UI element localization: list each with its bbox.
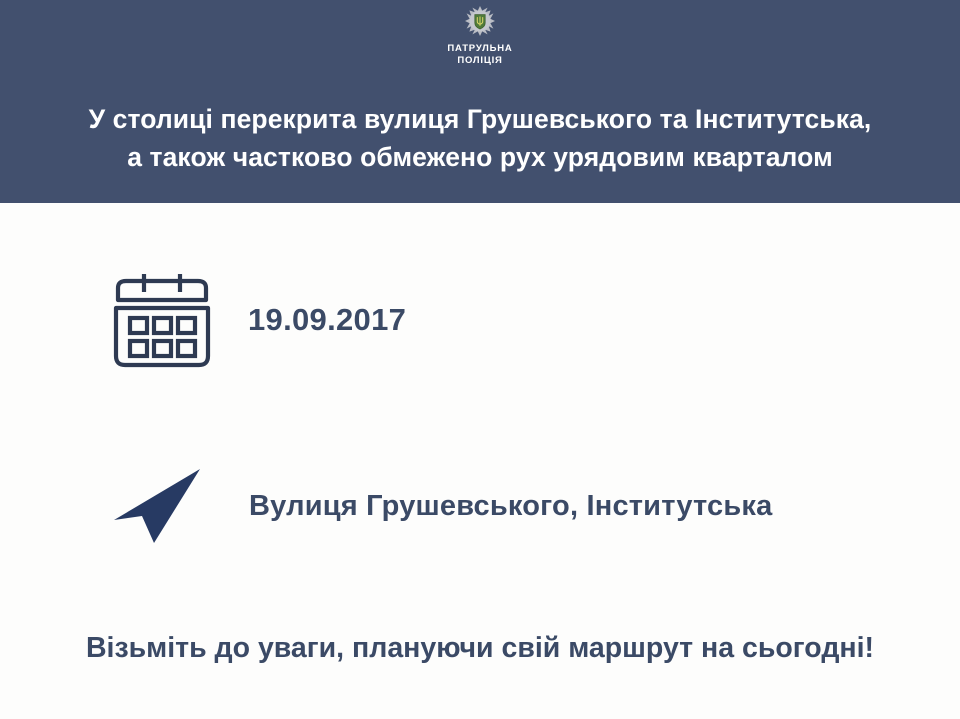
header-band: ПАТРУЛЬНА ПОЛІЦІЯ У столиці перекрита ву…	[0, 0, 960, 203]
brand-wordmark-line1: ПАТРУЛЬНА	[447, 43, 512, 55]
page-title: У столиці перекрита вулиця Грушевського …	[0, 100, 960, 176]
police-badge-icon	[461, 6, 499, 40]
navigation-arrow-icon	[112, 466, 204, 546]
brand-wordmark-line2: ПОЛІЦІЯ	[447, 55, 512, 67]
location-value: Вулиця Грушевського, Інститутська	[249, 490, 772, 523]
page-title-line2: а також частково обмежено рух урядовим к…	[0, 138, 960, 176]
page-title-line1: У столиці перекрита вулиця Грушевського …	[0, 100, 960, 138]
date-row: 19.09.2017	[112, 268, 406, 372]
location-row: Вулиця Грушевського, Інститутська	[112, 466, 772, 546]
brand-wordmark: ПАТРУЛЬНА ПОЛІЦІЯ	[447, 43, 512, 67]
footer-note: Візьміть до уваги, плануючи свій маршрут…	[0, 632, 960, 665]
date-value: 19.09.2017	[248, 302, 406, 338]
calendar-icon	[112, 268, 212, 372]
location-row-icon-slot	[112, 466, 220, 546]
date-row-icon-slot	[112, 268, 220, 372]
announcement-poster: ПАТРУЛЬНА ПОЛІЦІЯ У столиці перекрита ву…	[0, 0, 960, 719]
brand-lockup: ПАТРУЛЬНА ПОЛІЦІЯ	[0, 6, 960, 67]
